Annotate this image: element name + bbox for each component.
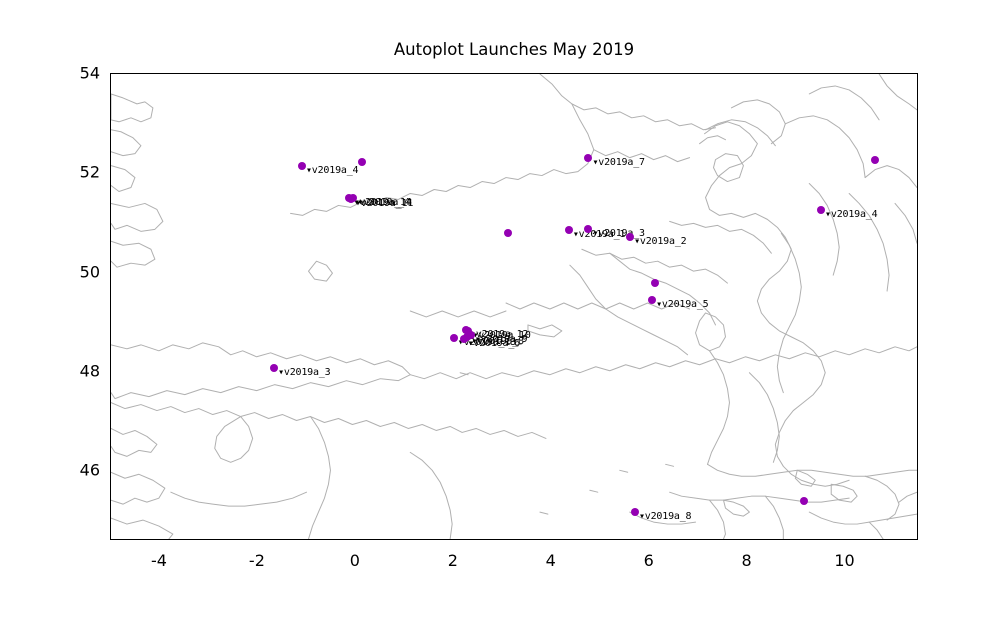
y-tick-minor <box>110 521 111 523</box>
page-title: Autoplot Launches May 2019 <box>110 40 918 59</box>
y-tick-minor <box>110 223 111 225</box>
y-tick-major <box>110 471 111 473</box>
figure-canvas: Autoplot Launches May 2019 <box>0 0 1003 633</box>
launch-marker-label: ▾v2019a_4 <box>306 165 358 176</box>
y-tick-major <box>110 173 111 175</box>
x-axis-tick-label: 10 <box>815 551 875 570</box>
launch-marker[interactable] <box>651 279 659 287</box>
launch-marker[interactable] <box>817 206 825 214</box>
launch-marker-label: ▾v2019a_4 <box>825 209 877 220</box>
launch-marker-label: ▾v2019a_5 <box>656 299 708 310</box>
y-tick-minor <box>110 322 111 324</box>
x-axis-tick-label: 2 <box>423 551 483 570</box>
x-axis-tick-label: 6 <box>619 551 679 570</box>
y-axis-tick-label: 46 <box>56 461 100 480</box>
y-axis-tick-label: 50 <box>56 262 100 281</box>
y-tick-minor <box>110 422 111 424</box>
y-tick-major <box>110 74 111 76</box>
y-axis-tick-label: 48 <box>56 362 100 381</box>
tick-marks-layer <box>111 74 918 540</box>
launch-marker[interactable] <box>871 156 879 164</box>
y-tick-major <box>110 372 111 374</box>
y-axis-tick-label: 52 <box>56 163 100 182</box>
launch-marker[interactable] <box>298 162 306 170</box>
x-axis-tick-label: -4 <box>129 551 189 570</box>
x-axis-tick-label: 8 <box>717 551 777 570</box>
launch-marker[interactable] <box>504 229 512 237</box>
launch-marker-label: ▾v2019a_7 <box>592 157 644 168</box>
launch-marker-label: ▾v2019a_2 <box>634 236 686 247</box>
x-axis-tick-label: -2 <box>227 551 287 570</box>
y-tick-minor <box>110 124 111 126</box>
map-plot-area[interactable]: ▾v2019a_4▾v2019a_14▾v2019a_11▾v2019a_4▾v… <box>110 73 918 540</box>
launch-marker-label: ▾v2019a_8 <box>639 511 691 522</box>
y-axis-tick-label: 54 <box>56 64 100 83</box>
launch-marker[interactable] <box>626 233 634 241</box>
launch-marker-label: ▾v2019a_6 <box>468 338 520 349</box>
launch-marker-label: ▾v2019a_4 <box>357 197 409 208</box>
launch-marker[interactable] <box>460 335 468 343</box>
launch-marker-label: ▾v2019a_3 <box>278 367 330 378</box>
x-axis-tick-label: 0 <box>325 551 385 570</box>
x-axis-tick-label: 4 <box>521 551 581 570</box>
y-tick-major <box>110 273 111 275</box>
